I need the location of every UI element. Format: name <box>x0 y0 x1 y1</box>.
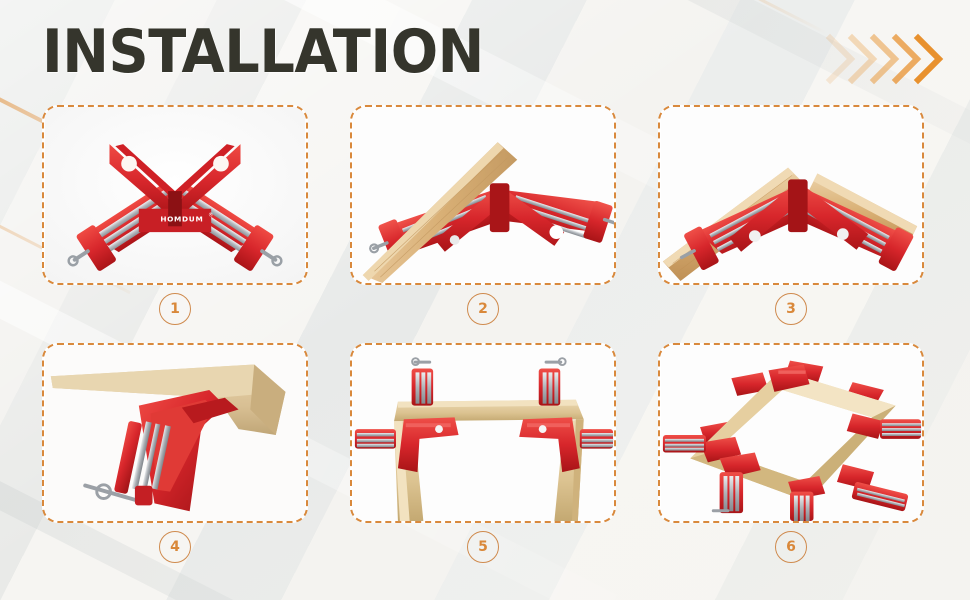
step-card-3[interactable]: 3 <box>658 105 924 285</box>
step-image-frame-3 <box>658 105 924 285</box>
brand-logo-text: HOMDUM <box>160 214 203 223</box>
illustration-clamp-with-two-boards <box>660 107 922 283</box>
step-image-frame-2 <box>350 105 616 285</box>
step-image-frame-4 <box>42 343 308 523</box>
step-number-badge: 6 <box>775 531 807 563</box>
installation-infographic: INSTALLATION <box>0 0 970 600</box>
illustration-frame-three-sides <box>352 345 614 521</box>
svg-text:®: ® <box>208 212 213 219</box>
double-chevron-right-icon <box>824 30 944 88</box>
illustration-closeup-clamp-on-beam <box>44 345 306 521</box>
step-number-badge: 3 <box>775 293 807 325</box>
illustration-clamp-with-one-board <box>352 107 614 283</box>
step-number-badge: 1 <box>159 293 191 325</box>
illustration-single-clamp-open-v: HOMDUM ® <box>44 107 306 283</box>
step-number-badge: 5 <box>467 531 499 563</box>
step-card-5[interactable]: 5 <box>350 343 616 523</box>
step-card-2[interactable]: 2 <box>350 105 616 285</box>
step-card-4[interactable]: 4 <box>42 343 308 523</box>
step-number-badge: 2 <box>467 293 499 325</box>
page-title: INSTALLATION <box>42 22 484 82</box>
step-image-frame-1: HOMDUM ® <box>42 105 308 285</box>
step-image-frame-6 <box>658 343 924 523</box>
steps-grid: HOMDUM ® 1 <box>42 105 928 560</box>
step-number-badge: 4 <box>159 531 191 563</box>
step-card-6[interactable]: 6 <box>658 343 924 523</box>
illustration-complete-square-frame <box>660 345 922 521</box>
step-image-frame-5 <box>350 343 616 523</box>
step-card-1[interactable]: HOMDUM ® 1 <box>42 105 308 285</box>
